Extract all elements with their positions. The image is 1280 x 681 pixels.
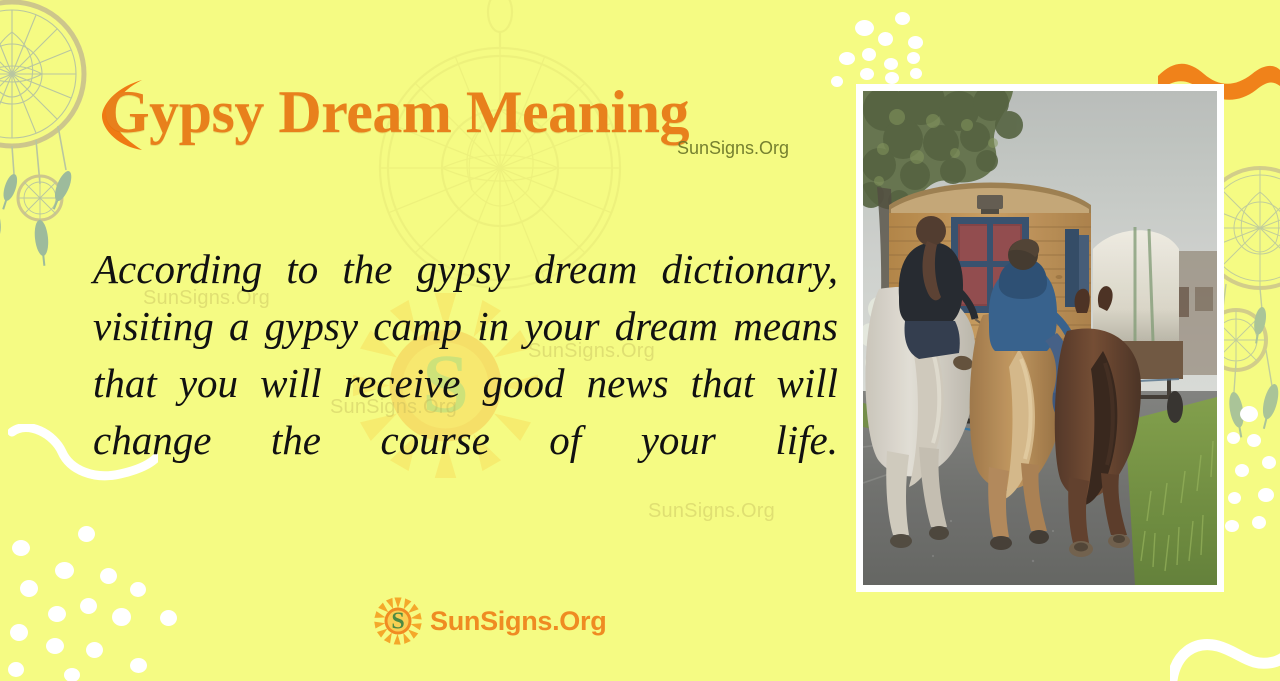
brand-wordmark: SunSigns.Org <box>430 606 606 637</box>
squiggle-decoration <box>1170 618 1280 681</box>
page-title: Gypsy Dream Meaning <box>103 82 689 142</box>
banner-card: S SunSigns.Org SunSigns.Org SunSigns.Org… <box>0 0 1280 681</box>
gypsy-caravan-photo <box>863 91 1217 585</box>
logo-monogram: S <box>391 609 404 635</box>
sun-logo-icon: S <box>372 596 424 646</box>
photo-frame <box>856 84 1224 592</box>
brand-logo[interactable]: S SunSigns.Org <box>372 596 606 646</box>
body-paragraph: According to the gypsy dream dictionary,… <box>93 241 838 526</box>
title-watermark: SunSigns.Org <box>677 138 789 159</box>
